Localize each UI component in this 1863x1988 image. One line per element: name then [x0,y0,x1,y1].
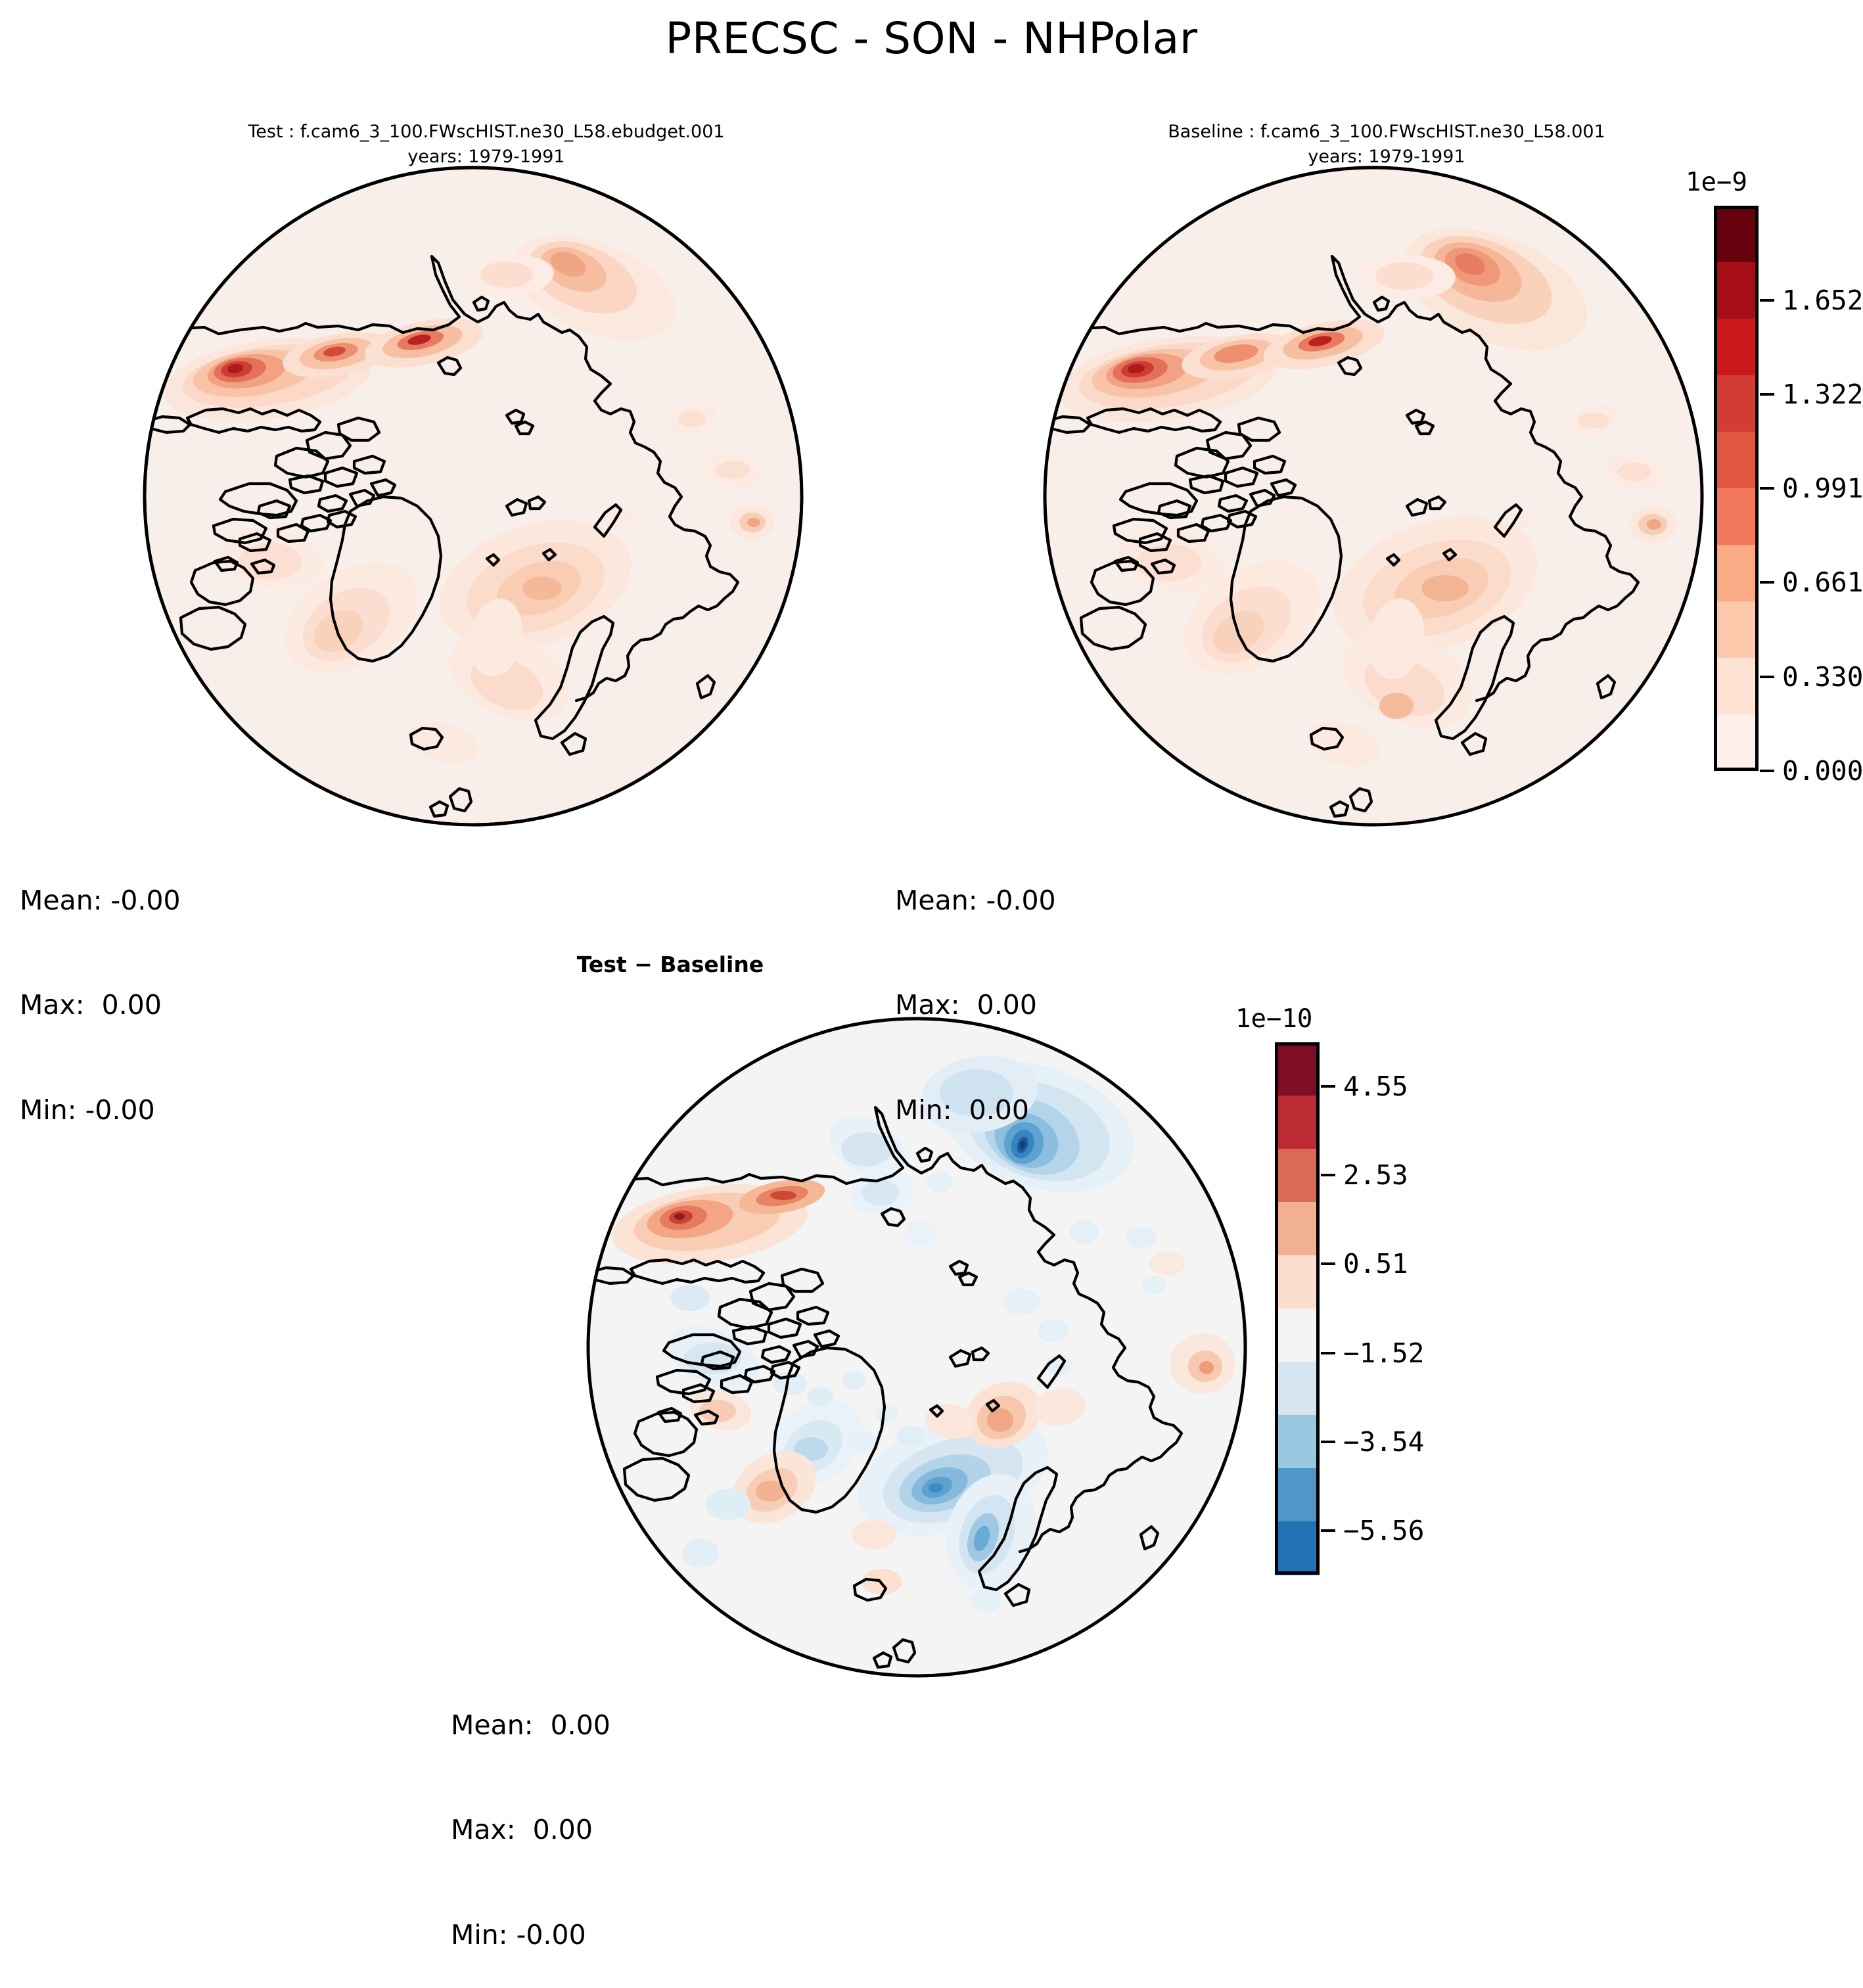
colorbar-tick-mark [1760,299,1774,302]
test-panel-title: Test : f.cam6_3_100.FWscHIST.ne30_L58.eb… [105,120,867,170]
colorbar-tick-mark [1321,1529,1335,1532]
test-label-bold: Test [248,122,283,142]
test-stat-max: Max: 0.00 [20,988,181,1023]
difference-panel-title: Test − Baseline [421,952,920,977]
colorbar-tick-label: 0.991 [1782,473,1863,504]
difference-colorbar-ticks: 4.552.530.51−1.52−3.54−5.56 [1235,1004,1426,1635]
baseline-case-name: f.cam6_3_100.FWscHIST.ne30_L58.001 [1260,122,1605,142]
colorbar-tick-label: 4.55 [1343,1071,1408,1102]
difference-stat-min: Min: -0.00 [451,1918,610,1953]
difference-stat-max: Max: 0.00 [451,1813,610,1847]
baseline-map[interactable] [1042,164,1705,828]
baseline-label-bold: Baseline [1168,122,1243,142]
baseline-map-svg [1042,164,1705,828]
colorbar-tick-label: 0.000 [1782,755,1863,787]
colorbar-tick-mark [1321,1262,1335,1265]
colorbar-tick-mark [1760,487,1774,490]
primary-colorbar[interactable]: 1e−9 1.6521.3220.9910.6610.3300.000 [1669,168,1863,825]
difference-colorbar[interactable]: 1e−10 4.552.530.51−1.52−3.54−5.56 [1235,1004,1426,1635]
colorbar-tick-mark [1760,676,1774,678]
figure-suptitle: PRECSC - SON - NHPolar [0,13,1863,64]
test-case-name: f.cam6_3_100.FWscHIST.ne30_L58.ebudget.0… [300,122,725,142]
colorbar-tick-label: 2.53 [1343,1159,1408,1191]
primary-colorbar-ticks: 1.6521.3220.9910.6610.3300.000 [1669,168,1863,825]
baseline-stat-min: Min: 0.00 [895,1093,1056,1128]
colorbar-tick-label: −5.56 [1343,1515,1424,1546]
test-map[interactable] [141,164,805,828]
baseline-panel-title: Baseline : f.cam6_3_100.FWscHIST.ne30_L5… [1005,120,1768,170]
baseline-stat-max: Max: 0.00 [895,988,1056,1023]
test-stats: Mean: -0.00 Max: 0.00 Min: -0.00 [20,813,181,1163]
colorbar-tick-mark [1760,393,1774,396]
difference-stat-mean: Mean: 0.00 [451,1708,610,1743]
colorbar-tick-label: −3.54 [1343,1426,1424,1458]
colorbar-tick-label: 0.661 [1782,566,1863,598]
test-title-separator: : [283,122,300,142]
baseline-title-separator: : [1243,122,1260,142]
colorbar-tick-label: 0.330 [1782,661,1863,693]
colorbar-tick-mark [1760,770,1774,772]
difference-stats: Mean: 0.00 Max: 0.00 Min: -0.00 [451,1638,610,1988]
colorbar-tick-mark [1321,1174,1335,1176]
test-map-svg [141,164,805,828]
baseline-contour-norwegian-sea [1358,255,1456,300]
colorbar-tick-label: 1.322 [1782,379,1863,410]
colorbar-tick-label: −1.52 [1343,1337,1424,1369]
baseline-stat-mean: Mean: -0.00 [895,883,1056,918]
baseline-stats: Mean: -0.00 Max: 0.00 Min: 0.00 [895,813,1056,1163]
colorbar-tick-mark [1321,1352,1335,1354]
colorbar-tick-mark [1321,1085,1335,1088]
colorbar-tick-label: 0.51 [1343,1248,1408,1280]
colorbar-tick-label: 1.652 [1782,285,1863,316]
test-stat-min: Min: -0.00 [20,1093,181,1128]
test-stat-mean: Mean: -0.00 [20,883,181,918]
colorbar-tick-mark [1321,1441,1335,1443]
colorbar-tick-mark [1760,581,1774,584]
